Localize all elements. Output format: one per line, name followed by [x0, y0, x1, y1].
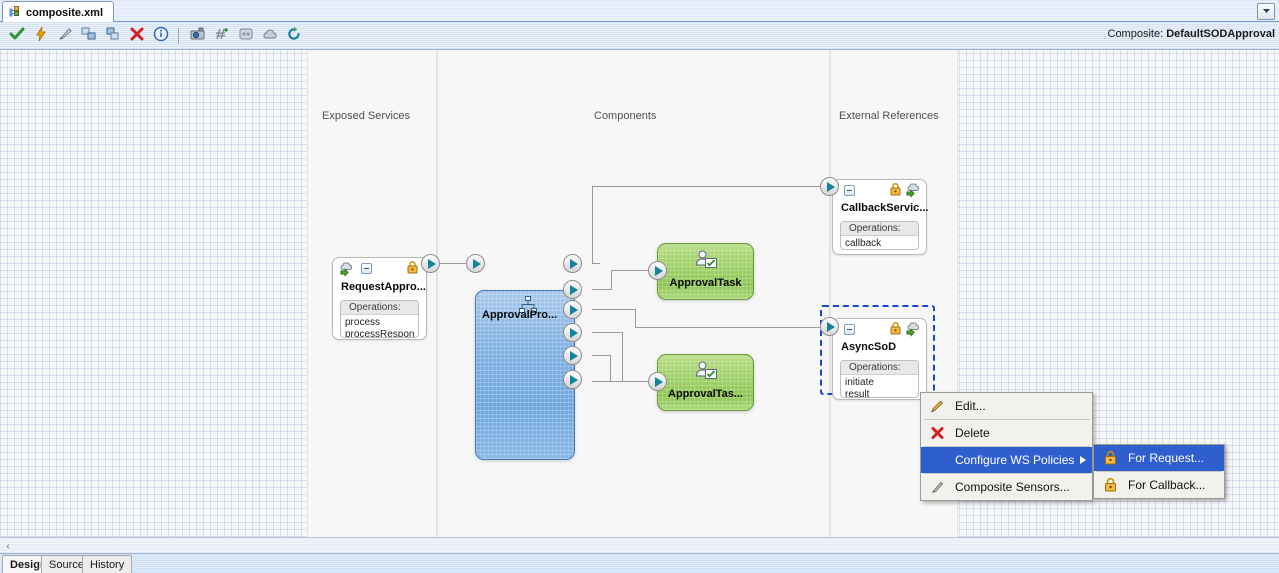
operations-header: Operations:	[841, 222, 918, 236]
document-tab-strip: composite.xml	[0, 0, 1279, 22]
operations-header: Operations:	[841, 361, 918, 375]
operations-list: process processRespon...	[341, 315, 418, 338]
port-approvaltask2-input[interactable]	[648, 372, 667, 391]
submenu-item-label: For Request...	[1128, 451, 1204, 465]
operation-item[interactable]: processRespon...	[345, 329, 414, 338]
port-icon	[827, 322, 835, 332]
submenu-item-for-callback[interactable]: For Callback...	[1094, 472, 1224, 498]
composite-value: DefaultSODApproval	[1166, 28, 1275, 40]
wire-p4-seg-b	[622, 332, 623, 382]
menu-item-label: Configure WS Policies	[955, 453, 1074, 467]
service-title: RequestAppro...	[341, 281, 429, 293]
context-menu[interactable]: Edit... Delete Configure WS Policies Com…	[920, 392, 1093, 501]
paste-button[interactable]	[102, 25, 124, 47]
sensors-button[interactable]	[211, 25, 233, 47]
wire-p2-seg-a	[592, 289, 611, 290]
reference-header: AsyncSoD	[833, 319, 926, 341]
pencil-icon	[929, 398, 946, 415]
service-requestapproval[interactable]: RequestAppro... Operations: process proc…	[332, 257, 427, 340]
human-task-icon	[694, 361, 719, 386]
package-icon	[238, 26, 254, 45]
wire-p4-seg-a	[592, 332, 622, 333]
sensors-icon	[214, 26, 230, 45]
lock-icon	[407, 261, 418, 277]
context-submenu-configure-ws-policies[interactable]: For Request... For Callback...	[1093, 444, 1225, 499]
collapse-icon[interactable]	[844, 324, 855, 335]
wire-p6-seg-a	[592, 381, 648, 382]
lane-title-external-references: External References	[839, 110, 939, 122]
port-bpel-output-6[interactable]	[563, 370, 582, 389]
wire-p2-seg-b	[611, 270, 612, 290]
editor-toolbar: Composite: DefaultSODApproval	[0, 22, 1279, 50]
pen-icon	[929, 479, 946, 496]
port-icon	[827, 182, 835, 192]
menu-item-label: Edit...	[955, 399, 986, 413]
deploy-button[interactable]	[235, 25, 257, 47]
editor-view-tabs: Design Source History	[0, 553, 1279, 573]
menu-item-label: Delete	[955, 426, 990, 440]
green-check-icon	[9, 26, 25, 45]
port-bpel-output-4[interactable]	[563, 323, 582, 342]
tab-label: Source	[49, 559, 84, 571]
operation-item[interactable]: result	[845, 389, 914, 398]
operation-item[interactable]: process	[345, 317, 414, 329]
wire-p2-seg-c	[611, 270, 648, 271]
web-service-icon	[905, 321, 924, 341]
human-task-icon	[694, 250, 719, 275]
component-approvaltask2[interactable]: ApprovalTas...	[657, 354, 754, 411]
composite-prefix: Composite:	[1108, 28, 1164, 40]
port-approvaltask-input[interactable]	[648, 261, 667, 280]
horizontal-scrollbar[interactable]: ‹	[0, 537, 1279, 553]
paste-blocks-icon	[105, 26, 121, 45]
submenu-item-for-request[interactable]: For Request...	[1094, 445, 1224, 471]
camera-search-icon	[190, 26, 206, 45]
menu-item-edit[interactable]: Edit...	[921, 393, 1092, 419]
wire-p5-seg-b	[610, 355, 611, 382]
search-properties-button[interactable]	[187, 25, 209, 47]
menu-item-delete[interactable]: Delete	[921, 420, 1092, 446]
port-icon	[570, 285, 578, 295]
port-bpel-output-3[interactable]	[563, 300, 582, 319]
menu-item-configure-ws-policies[interactable]: Configure WS Policies	[921, 447, 1092, 473]
service-header: RequestAppro...	[333, 258, 426, 280]
port-bpel-output-1[interactable]	[563, 254, 582, 273]
operation-item[interactable]: callback	[845, 238, 914, 250]
refresh-arrow-icon	[286, 26, 302, 45]
lane-title-components: Components	[594, 110, 656, 122]
component-approvaltask[interactable]: ApprovalTask	[657, 243, 754, 300]
collapse-icon[interactable]	[844, 185, 855, 196]
port-bpel-input[interactable]	[466, 254, 485, 273]
tab-history[interactable]: History	[82, 555, 132, 573]
xml-file-icon	[9, 6, 22, 19]
wire-p3-seg-a	[592, 309, 635, 310]
toolbar-separator	[178, 28, 179, 44]
tab-list-dropdown-button[interactable]	[1257, 3, 1275, 20]
run-button[interactable]	[30, 25, 52, 47]
chevron-down-icon	[1262, 6, 1271, 18]
port-callbackservice-input[interactable]	[820, 177, 839, 196]
info-circle-icon	[153, 26, 169, 45]
jdeveloper-composite-editor: composite.xml	[0, 0, 1279, 573]
port-icon	[655, 266, 663, 276]
pen-icon	[57, 26, 73, 45]
operations-panel: Operations: callback	[840, 221, 919, 250]
port-requestapproval-output[interactable]	[421, 254, 440, 273]
copy-blocks-icon	[81, 26, 97, 45]
wire-p1-seg-a	[592, 263, 600, 264]
lock-icon	[890, 322, 901, 338]
delete-button[interactable]	[126, 25, 148, 47]
operations-panel: Operations: initiate result	[840, 360, 919, 398]
lock-icon	[1102, 477, 1119, 494]
port-icon	[570, 305, 578, 315]
operations-list: callback	[841, 236, 918, 250]
web-service-icon	[339, 261, 356, 280]
composite-name-label: Composite: DefaultSODApproval	[1108, 28, 1276, 40]
operation-item[interactable]: initiate	[845, 377, 914, 389]
wire-p1-seg-c	[592, 186, 821, 187]
component-title: ApprovalTask	[658, 277, 753, 289]
lightning-bolt-icon	[33, 26, 49, 45]
port-asyncsod-input[interactable]	[820, 317, 839, 336]
collapse-icon[interactable]	[361, 263, 372, 274]
composite-design-canvas[interactable]: Exposed Services Components External Ref…	[0, 50, 1279, 537]
submenu-arrow-icon	[1080, 456, 1086, 464]
wire-p5-seg-a	[592, 355, 610, 356]
lane-title-exposed-services: Exposed Services	[322, 110, 410, 122]
component-title: ApprovalTas...	[658, 388, 753, 400]
copy-button[interactable]	[78, 25, 100, 47]
port-icon	[428, 259, 436, 269]
operations-header: Operations:	[341, 301, 418, 315]
component-approvalprocess[interactable]: ApprovalPro...	[475, 290, 575, 460]
validate-button[interactable]	[6, 25, 28, 47]
wire-p3-seg-b	[635, 309, 636, 328]
web-service-icon	[905, 182, 924, 202]
port-icon	[570, 259, 578, 269]
menu-item-label: Composite Sensors...	[955, 480, 1070, 494]
port-bpel-output-2[interactable]	[563, 280, 582, 299]
reference-title: CallbackServic...	[841, 202, 931, 214]
operations-panel: Operations: process processRespon...	[340, 300, 419, 338]
menu-item-composite-sensors[interactable]: Composite Sensors...	[921, 474, 1092, 500]
red-x-icon	[129, 26, 145, 45]
port-icon	[473, 259, 481, 269]
lock-icon	[890, 183, 901, 199]
port-icon	[570, 375, 578, 385]
component-title: ApprovalPro...	[482, 309, 557, 321]
red-x-icon	[929, 425, 946, 442]
refresh-button[interactable]	[283, 25, 305, 47]
gear-package-icon	[262, 26, 278, 45]
submenu-item-label: For Callback...	[1128, 478, 1205, 492]
port-icon	[655, 377, 663, 387]
operations-list: initiate result	[841, 375, 918, 398]
reference-callbackservice[interactable]: CallbackServic... Operations: callback	[832, 179, 927, 255]
build-button[interactable]	[259, 25, 281, 47]
reference-asyncsod[interactable]: AsyncSoD Operations: initiate result	[832, 318, 927, 400]
scroll-left-button[interactable]: ‹	[2, 540, 14, 552]
tab-composite-xml[interactable]: composite.xml	[2, 1, 114, 23]
port-icon	[570, 328, 578, 338]
wire-p1-seg-b	[592, 186, 593, 264]
lock-icon	[1102, 450, 1119, 467]
port-icon	[570, 351, 578, 361]
tab-label: History	[90, 559, 124, 571]
port-bpel-output-5[interactable]	[563, 346, 582, 365]
reference-header: CallbackServic...	[833, 180, 926, 202]
info-button[interactable]	[150, 25, 172, 47]
edit-pointer-button[interactable]	[54, 25, 76, 47]
reference-title: AsyncSoD	[841, 341, 931, 353]
tab-label: composite.xml	[26, 7, 103, 19]
wire-p3-seg-c	[635, 327, 820, 328]
